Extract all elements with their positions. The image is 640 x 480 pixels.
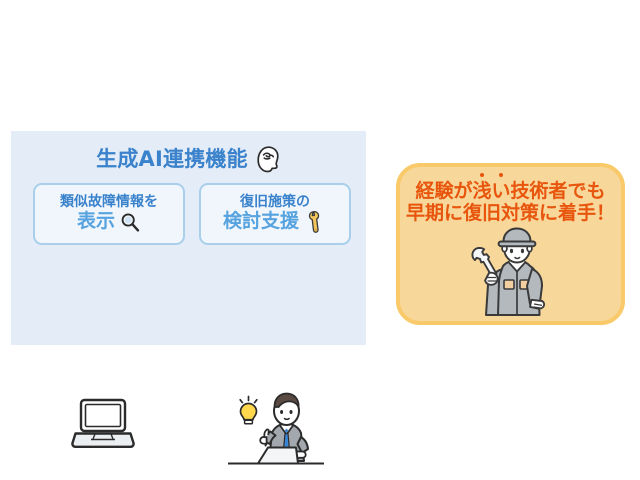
lightbulb-icon [240,397,257,424]
benefit-line-1: 経験が浅い技術者でも [400,180,621,202]
feature-box-display[interactable]: 類似故障情報を 表示 [33,183,185,245]
worker-illustration [456,223,576,325]
feature-box-display-line2: 表示 [77,212,115,232]
brain-head-icon [255,145,281,173]
feature-box-display-line2-row: 表示 [77,211,141,233]
benefit-line-1-emphasis-char-2: い [492,180,511,202]
benefit-text-block: 経験が浅い技術者でも 早期に復旧対策に着手！ [400,180,621,225]
magnifier-icon [119,211,141,233]
feature-box-support[interactable]: 復旧施策の 検討支援 [199,183,351,245]
benefit-line-1-emphasis-char-1: 浅 [472,180,491,202]
page-title: 生成AI連携機能 [96,149,248,170]
feature-box-support-line2: 検討支援 [223,212,299,232]
generative-ai-feature-panel: 生成AI連携機能 類似故障情報を 表示 復旧施策の 検討支援 [11,131,366,345]
benefit-line-2: 早期に復旧対策に着手！ [400,202,621,224]
laptop-illustration [69,396,137,454]
feature-box-support-line1: 復旧施策の [240,195,310,210]
wrench-icon [303,211,327,233]
engineer-illustration [226,383,326,471]
feature-box-display-line1: 類似故障情報を [60,195,158,210]
feature-box-support-line2-row: 検討支援 [223,211,327,233]
benefit-callout-panel: 経験が浅い技術者でも 早期に復旧対策に着手！ [396,163,625,325]
benefit-line-1-part-b: 技術者でも [511,180,606,202]
panel-title-row: 生成AI連携機能 [11,139,366,179]
benefit-line-1-part-a: 経験が [415,180,472,202]
